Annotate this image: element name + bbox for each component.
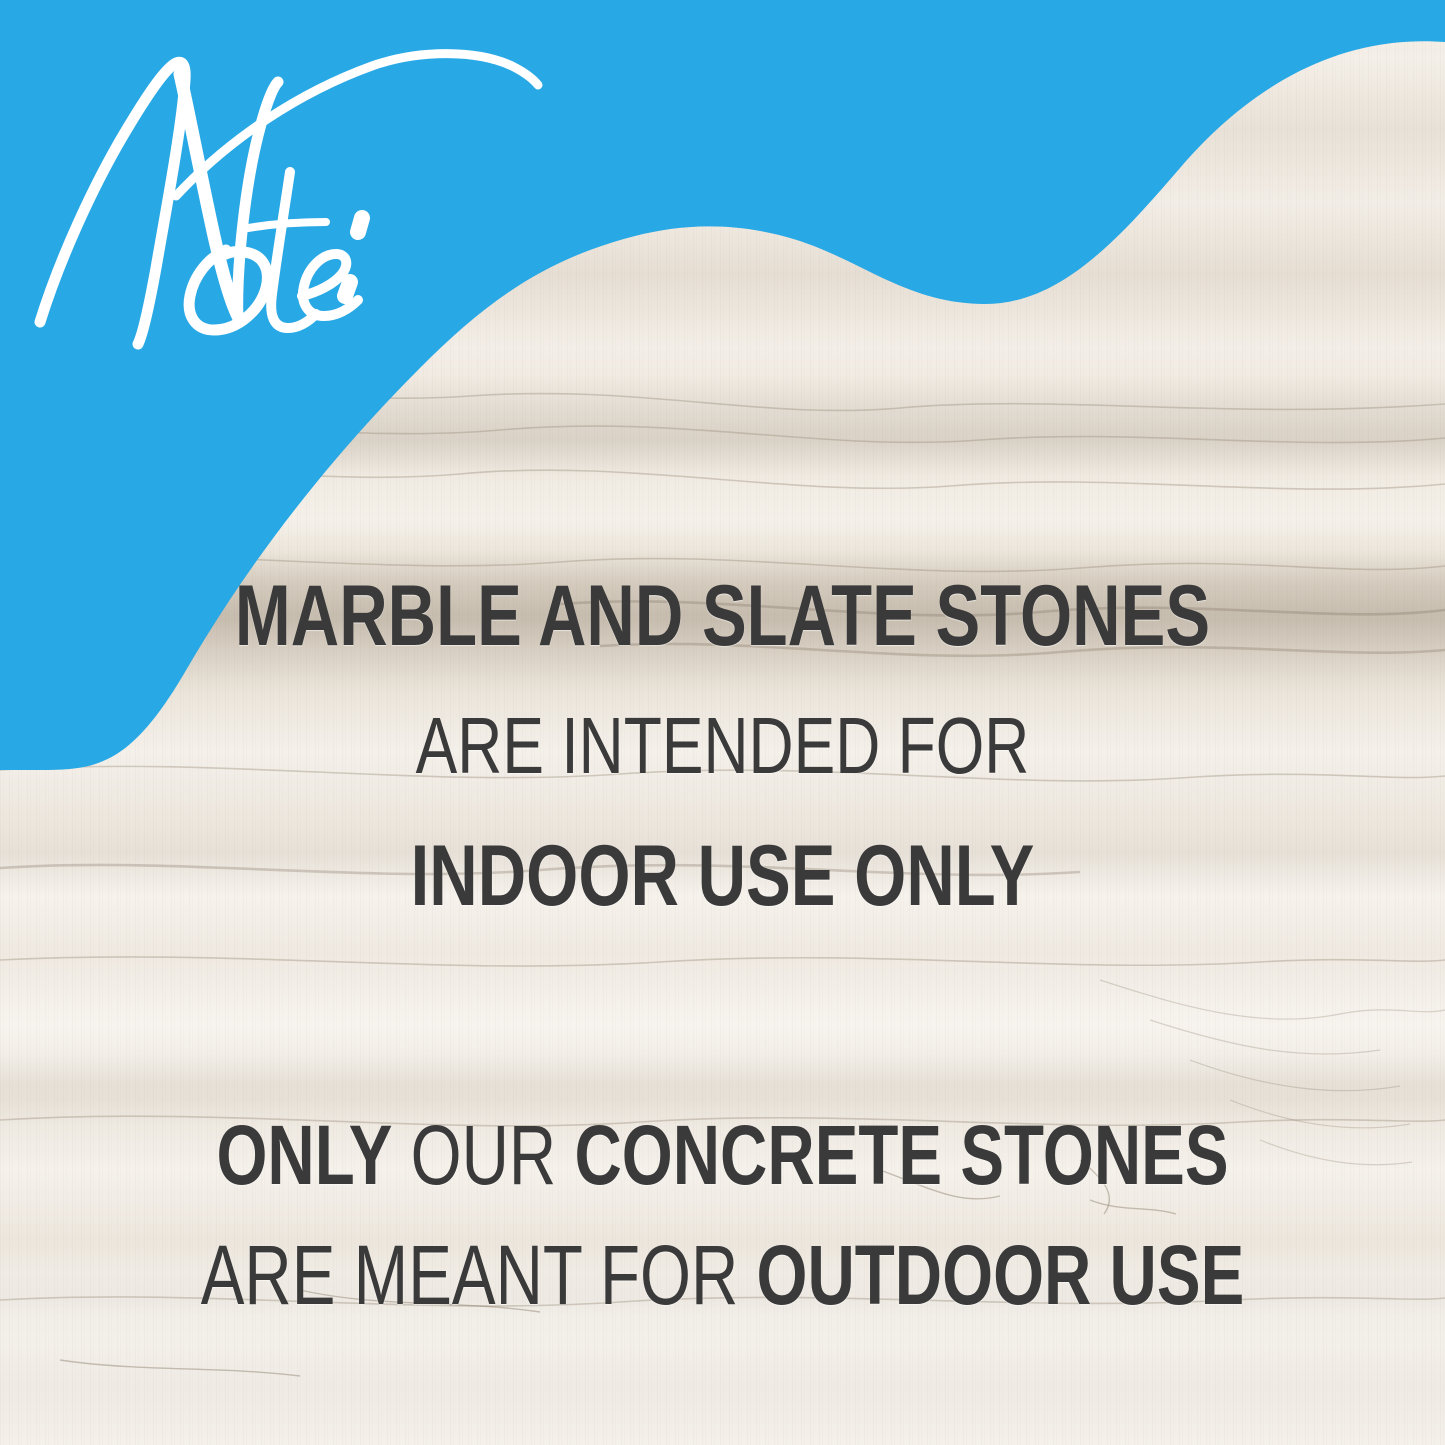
message-line-5: ARE MEANT FOR OUTDOOR USE: [0, 1233, 1445, 1317]
message-line-2: ARE INTENDED FOR: [0, 706, 1445, 786]
line1-segment-1: MARBLE AND SLATE STONES: [235, 568, 1210, 664]
line3-segment-1: INDOOR USE ONLY: [411, 828, 1035, 924]
message-line-3: INDOOR USE ONLY: [0, 833, 1445, 919]
message-line-1: MARBLE AND SLATE STONES: [0, 573, 1445, 659]
message-line-4: ONLY OUR CONCRETE STONES: [0, 1113, 1445, 1197]
line4-segment-3: CONCRETE STONES: [574, 1108, 1228, 1202]
line4-segment-2: OUR: [392, 1108, 574, 1202]
line2-segment-1: ARE INTENDED FOR: [416, 701, 1030, 790]
note-graphic-canvas: MARBLE AND SLATE STONES ARE INTENDED FOR…: [0, 0, 1445, 1445]
line5-segment-1: ARE MEANT FOR: [201, 1228, 757, 1322]
line4-segment-1: ONLY: [216, 1108, 392, 1202]
line5-segment-2: OUTDOOR USE: [756, 1228, 1244, 1322]
